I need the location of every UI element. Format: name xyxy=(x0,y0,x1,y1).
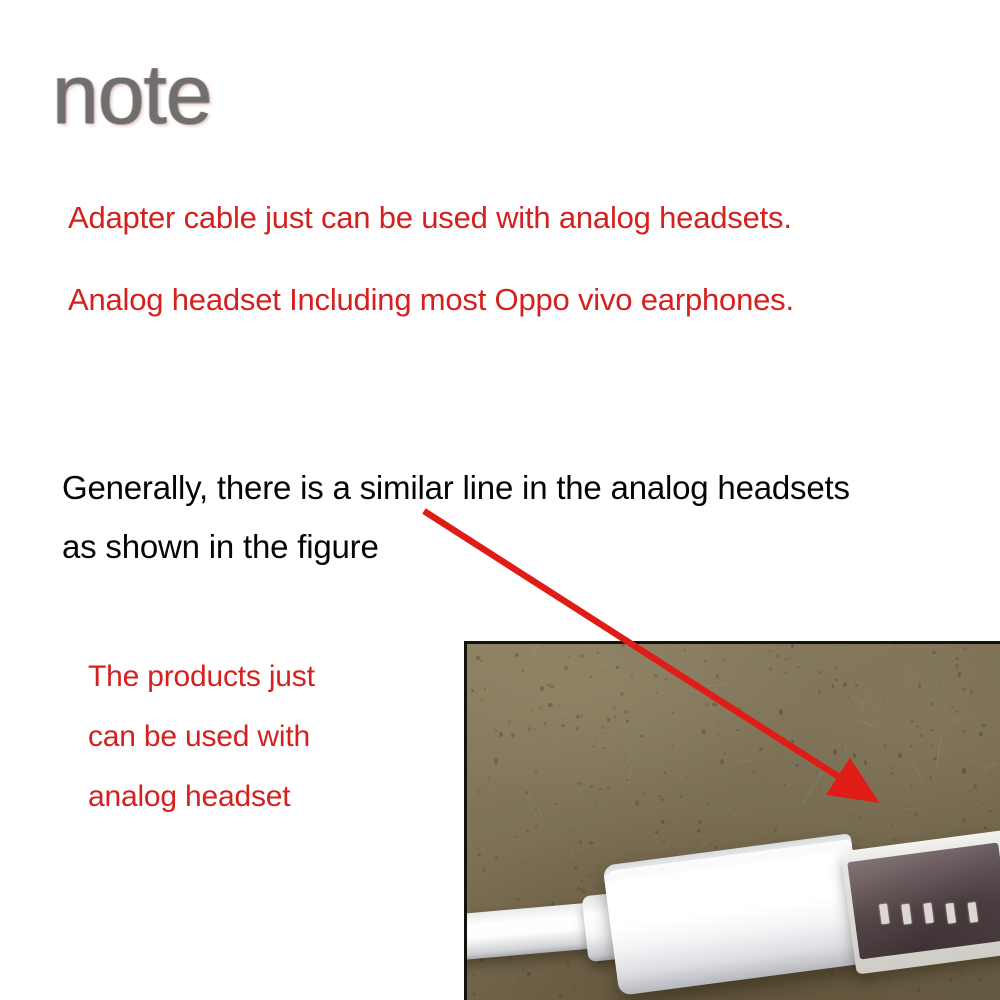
note-graphic-page: note Adapter cable just can be used with… xyxy=(0,0,1000,1000)
products-note-line-3: analog headset xyxy=(88,780,290,814)
notice-red-line-1: Adapter cable just can be used with anal… xyxy=(68,200,792,236)
contact-pin xyxy=(879,904,890,925)
contact-pin xyxy=(968,902,979,923)
products-note-line-2: can be used with xyxy=(88,720,310,754)
page-title: note xyxy=(52,52,212,136)
connector-contact-face xyxy=(847,842,1000,959)
notice-red-line-2: Analog headset Including most Oppo vivo … xyxy=(68,282,794,318)
contact-pin xyxy=(945,903,956,924)
explanation-line-1: Generally, there is a similar line in th… xyxy=(62,469,850,507)
connector-photo xyxy=(464,641,1000,1000)
contact-pin xyxy=(901,903,912,924)
products-note-line-1: The products just xyxy=(88,660,315,694)
explanation-line-2: as shown in the figure xyxy=(62,528,379,566)
contact-pin xyxy=(923,903,934,924)
